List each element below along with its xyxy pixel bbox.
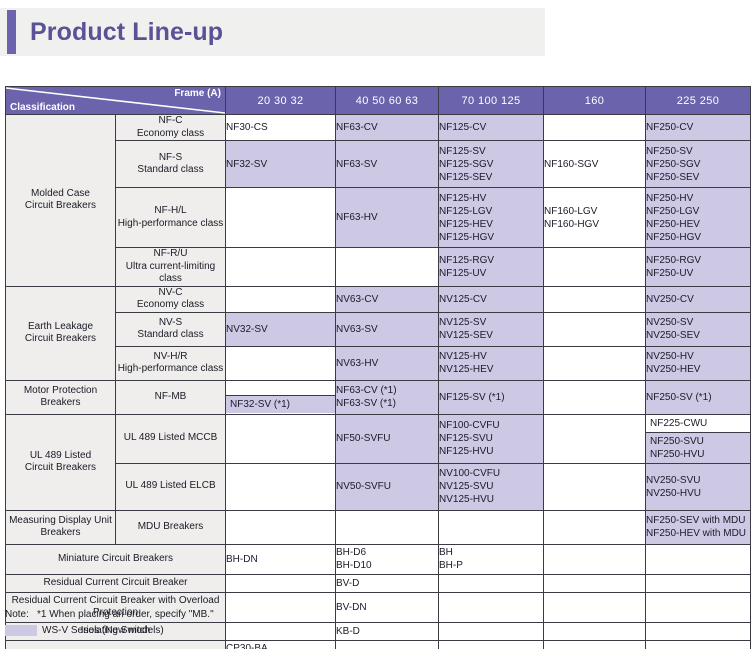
table-row: Miniature Circuit BreakersBH-DNBH-D6 BH-… bbox=[6, 544, 751, 574]
data-cell-1-2-1: NV63-HV bbox=[336, 346, 439, 380]
data-cell-1-0-2: NV125-CV bbox=[439, 286, 544, 312]
table-header: Frame (A) Classification 20 30 32 40 50 … bbox=[6, 87, 751, 115]
product-lineup-page: Product Line-up Frame (A) bbox=[0, 0, 753, 649]
data-cell-4-0-3 bbox=[544, 510, 646, 544]
data-cell-1-1-4: NV250-SV NV250-SEV bbox=[646, 312, 751, 346]
data-cell-0-1-0: NF32-SV bbox=[226, 141, 336, 188]
table-row: NF-S Standard classNF32-SVNF63-SVNF125-S… bbox=[6, 141, 751, 188]
data-cell-3-0-0 bbox=[226, 414, 336, 463]
subclass-label: NF-R/U Ultra current-limiting class bbox=[116, 248, 226, 287]
data-cell-2-0-2: NF125-SV (*1) bbox=[439, 380, 544, 414]
wide-data-cell-3-4 bbox=[646, 622, 751, 640]
subclass-label: MDU Breakers bbox=[116, 510, 226, 544]
wide-data-cell-4-0: CP30-BA CP-S bbox=[226, 640, 336, 649]
wide-data-cell-4-2 bbox=[439, 640, 544, 649]
data-cell-0-1-3: NF160-SGV bbox=[544, 141, 646, 188]
wide-data-cell-2-3 bbox=[544, 592, 646, 622]
wide-data-cell-3-3 bbox=[544, 622, 646, 640]
data-cell-1-0-4: NV250-CV bbox=[646, 286, 751, 312]
table-row: UL 489 Listed ELCBNV50-SVFUNV100-CVFU NV… bbox=[6, 463, 751, 510]
note-text: *1 When placing an order, specify "MB." bbox=[37, 608, 214, 623]
table-row: Motor Protection BreakersNF-MBNF32-SV (*… bbox=[6, 380, 751, 414]
subclass-label: NF-H/L High-performance class bbox=[116, 188, 226, 248]
wide-data-cell-4-3 bbox=[544, 640, 646, 649]
subclass-label: NV-S Standard class bbox=[116, 312, 226, 346]
data-cell-1-2-2: NV125-HV NV125-HEV bbox=[439, 346, 544, 380]
data-cell-3-0-1: NF50-SVFU bbox=[336, 414, 439, 463]
subclass-label: NF-C Economy class bbox=[116, 115, 226, 141]
banner-accent-bar bbox=[7, 10, 16, 54]
group-label-0: Molded Case Circuit Breakers bbox=[6, 115, 116, 287]
ws-v-legend-swatch bbox=[5, 625, 37, 636]
corner-header-cell: Frame (A) Classification bbox=[6, 87, 226, 115]
data-cell-2-0-3 bbox=[544, 380, 646, 414]
data-cell-0-3-3 bbox=[544, 248, 646, 287]
data-cell-1-2-3 bbox=[544, 346, 646, 380]
data-cell-0-0-3 bbox=[544, 115, 646, 141]
subclass-label: UL 489 Listed ELCB bbox=[116, 463, 226, 510]
wide-data-cell-3-2 bbox=[439, 622, 544, 640]
table-row: Measuring Display Unit BreakersMDU Break… bbox=[6, 510, 751, 544]
wide-data-cell-2-0 bbox=[226, 592, 336, 622]
frame-axis-label: Frame (A) bbox=[174, 88, 221, 99]
column-header-40-50-60-63: 40 50 60 63 bbox=[336, 87, 439, 115]
data-cell-3-0-4-part-1: NF250-SVU NF250-HVU bbox=[646, 433, 750, 463]
note-line: Note: *1 When placing an order, specify … bbox=[5, 608, 214, 623]
group-label-3: UL 489 Listed Circuit Breakers bbox=[6, 414, 116, 510]
data-cell-4-0-1 bbox=[336, 510, 439, 544]
data-cell-0-0-1: NF63-CV bbox=[336, 115, 439, 141]
table-row: Molded Case Circuit BreakersNF-C Economy… bbox=[6, 115, 751, 141]
group-label-1: Earth Leakage Circuit Breakers bbox=[6, 286, 116, 380]
data-cell-1-1-2: NV125-SV NV125-SEV bbox=[439, 312, 544, 346]
data-cell-1-2-0 bbox=[226, 346, 336, 380]
data-cell-0-0-2: NF125-CV bbox=[439, 115, 544, 141]
table-row: Earth Leakage Circuit BreakersNV-C Econo… bbox=[6, 286, 751, 312]
data-cell-0-1-2: NF125-SV NF125-SGV NF125-SEV bbox=[439, 141, 544, 188]
wide-data-cell-3-1: KB-D bbox=[336, 622, 439, 640]
data-cell-0-0-4: NF250-CV bbox=[646, 115, 751, 141]
wide-data-cell-4-1 bbox=[336, 640, 439, 649]
subclass-label: NF-MB bbox=[116, 380, 226, 414]
wide-data-cell-0-4 bbox=[646, 544, 751, 574]
table-body: Molded Case Circuit BreakersNF-C Economy… bbox=[6, 115, 751, 649]
product-lineup-table: Frame (A) Classification 20 30 32 40 50 … bbox=[5, 86, 751, 649]
wide-data-cell-0-1: BH-D6 BH-D10 bbox=[336, 544, 439, 574]
data-cell-4-0-4: NF250-SEV with MDU NF250-HEV with MDU bbox=[646, 510, 751, 544]
wide-data-cell-0-3 bbox=[544, 544, 646, 574]
data-cell-3-1-2: NV100-CVFU NV125-SVU NV125-HVU bbox=[439, 463, 544, 510]
subclass-label: NF-S Standard class bbox=[116, 141, 226, 188]
column-header-160: 160 bbox=[544, 87, 646, 115]
data-cell-3-1-3 bbox=[544, 463, 646, 510]
data-cell-1-1-1: NV63-SV bbox=[336, 312, 439, 346]
table-row: UL 489 Listed Circuit BreakersUL 489 Lis… bbox=[6, 414, 751, 463]
wide-data-cell-1-4 bbox=[646, 574, 751, 592]
wide-row-label-0: Miniature Circuit Breakers bbox=[6, 544, 226, 574]
data-cell-1-0-1: NV63-CV bbox=[336, 286, 439, 312]
data-cell-2-0-4: NF250-SV (*1) bbox=[646, 380, 751, 414]
page-banner: Product Line-up bbox=[0, 8, 545, 56]
data-cell-2-0-0-split: NF32-SV (*1) bbox=[226, 380, 336, 414]
data-cell-3-1-0 bbox=[226, 463, 336, 510]
table-row: NV-H/R High-performance classNV63-HVNV12… bbox=[6, 346, 751, 380]
wide-data-cell-0-0: BH-DN bbox=[226, 544, 336, 574]
table-row: Residual Current Circuit BreakerBV-D bbox=[6, 574, 751, 592]
data-cell-0-1-1: NF63-SV bbox=[336, 141, 439, 188]
classification-axis-label: Classification bbox=[10, 102, 75, 113]
column-header-70-100-125: 70 100 125 bbox=[439, 87, 544, 115]
wide-data-cell-2-2 bbox=[439, 592, 544, 622]
group-label-2: Motor Protection Breakers bbox=[6, 380, 116, 414]
wide-data-cell-3-0 bbox=[226, 622, 336, 640]
notes-block: Note: *1 When placing an order, specify … bbox=[5, 608, 214, 638]
wide-data-cell-0-2: BH BH-P bbox=[439, 544, 544, 574]
group-label-4: Measuring Display Unit Breakers bbox=[6, 510, 116, 544]
data-cell-2-0-1: NF63-CV (*1) NF63-SV (*1) bbox=[336, 380, 439, 414]
legend-line: WS-V Series (New models) bbox=[5, 624, 214, 639]
data-cell-1-0-0 bbox=[226, 286, 336, 312]
column-header-20-30-32: 20 30 32 bbox=[226, 87, 336, 115]
data-cell-3-0-4-split: NF225-CWUNF250-SVU NF250-HVU bbox=[646, 414, 751, 463]
data-cell-0-3-1 bbox=[336, 248, 439, 287]
data-cell-0-3-0 bbox=[226, 248, 336, 287]
data-cell-0-1-4: NF250-SV NF250-SGV NF250-SEV bbox=[646, 141, 751, 188]
data-cell-0-2-1: NF63-HV bbox=[336, 188, 439, 248]
wide-row-label-1: Residual Current Circuit Breaker bbox=[6, 574, 226, 592]
subclass-label: NV-C Economy class bbox=[116, 286, 226, 312]
data-cell-4-0-0 bbox=[226, 510, 336, 544]
table-row: Circuit ProtectorsCP30-BA CP-S bbox=[6, 640, 751, 649]
data-cell-0-3-2: NF125-RGV NF125-UV bbox=[439, 248, 544, 287]
data-cell-0-2-4: NF250-HV NF250-LGV NF250-HEV NF250-HGV bbox=[646, 188, 751, 248]
data-cell-2-0-0-part-1: NF32-SV (*1) bbox=[226, 396, 335, 413]
data-cell-3-0-3 bbox=[544, 414, 646, 463]
data-cell-1-1-0: NV32-SV bbox=[226, 312, 336, 346]
table-row: NF-R/U Ultra current-limiting classNF125… bbox=[6, 248, 751, 287]
data-cell-3-1-1: NV50-SVFU bbox=[336, 463, 439, 510]
legend-text: WS-V Series (New models) bbox=[42, 624, 164, 639]
data-cell-1-0-3 bbox=[544, 286, 646, 312]
data-cell-2-0-0-part-0 bbox=[226, 382, 335, 396]
wide-data-cell-2-1: BV-DN bbox=[336, 592, 439, 622]
note-label: Note: bbox=[5, 608, 37, 623]
data-cell-3-0-4-part-0: NF225-CWU bbox=[646, 415, 750, 433]
wide-data-cell-2-4 bbox=[646, 592, 751, 622]
data-cell-0-0-0: NF30-CS bbox=[226, 115, 336, 141]
data-cell-3-0-2: NF100-CVFU NF125-SVU NF125-HVU bbox=[439, 414, 544, 463]
data-cell-1-2-4: NV250-HV NV250-HEV bbox=[646, 346, 751, 380]
column-header-225-250: 225 250 bbox=[646, 87, 751, 115]
data-cell-0-3-4: NF250-RGV NF250-UV bbox=[646, 248, 751, 287]
subclass-label: NV-H/R High-performance class bbox=[116, 346, 226, 380]
wide-row-label-4: Circuit Protectors bbox=[6, 640, 226, 649]
table-row: NV-S Standard classNV32-SVNV63-SVNV125-S… bbox=[6, 312, 751, 346]
wide-data-cell-4-4 bbox=[646, 640, 751, 649]
page-title: Product Line-up bbox=[30, 18, 223, 47]
table-header-row: Frame (A) Classification 20 30 32 40 50 … bbox=[6, 87, 751, 115]
wide-data-cell-1-0 bbox=[226, 574, 336, 592]
wide-data-cell-1-3 bbox=[544, 574, 646, 592]
wide-data-cell-1-2 bbox=[439, 574, 544, 592]
wide-data-cell-1-1: BV-D bbox=[336, 574, 439, 592]
lineup-table-wrapper: Frame (A) Classification 20 30 32 40 50 … bbox=[5, 86, 750, 649]
data-cell-0-2-2: NF125-HV NF125-LGV NF125-HEV NF125-HGV bbox=[439, 188, 544, 248]
data-cell-3-1-4: NV250-SVU NV250-HVU bbox=[646, 463, 751, 510]
subclass-label: UL 489 Listed MCCB bbox=[116, 414, 226, 463]
data-cell-1-1-3 bbox=[544, 312, 646, 346]
table-row: NF-H/L High-performance classNF63-HVNF12… bbox=[6, 188, 751, 248]
data-cell-0-2-3: NF160-LGV NF160-HGV bbox=[544, 188, 646, 248]
data-cell-0-2-0 bbox=[226, 188, 336, 248]
data-cell-4-0-2 bbox=[439, 510, 544, 544]
